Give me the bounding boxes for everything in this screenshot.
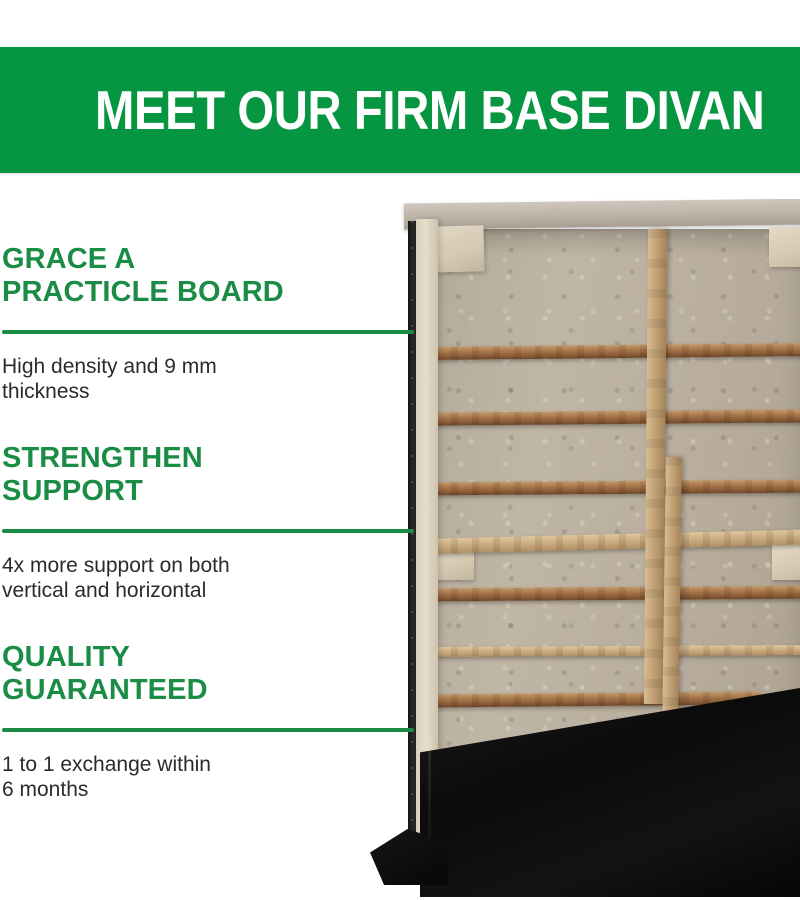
horizontal-slat [430,645,800,657]
feature-block: STRENGTHEN SUPPORT 4x more support on bo… [2,442,414,603]
feature-block: GRACE A PRACTICLE BOARD High density and… [2,243,414,404]
horizontal-slat [430,586,800,602]
feature-title: GRACE A PRACTICLE BOARD [2,243,414,309]
feature-list: GRACE A PRACTICLE BOARD High density and… [2,243,414,802]
feature-divider [2,529,414,533]
feature-divider [2,330,414,334]
product-photo-image [364,199,800,900]
feature-block: QUALITY GUARANTEED 1 to 1 exchange withi… [2,641,414,802]
corner-block-mid-right [772,544,800,580]
feature-divider [2,728,414,732]
feature-title: STRENGTHEN SUPPORT [2,442,414,508]
header-banner: MEET OUR FIRM BASE DIVAN [0,47,800,173]
product-photo [364,199,800,900]
horizontal-slat [430,480,800,496]
feature-body: 1 to 1 exchange within 6 months [2,752,414,802]
feature-title: QUALITY GUARANTEED [2,641,414,707]
corner-block-top-right [769,227,800,267]
feature-body: 4x more support on both vertical and hor… [2,553,414,603]
promo-graphic: MEET OUR FIRM BASE DIVAN GRACE A PRACTIC… [0,0,800,900]
left-frame-rail [416,219,438,835]
banner-title: MEET OUR FIRM BASE DIVAN [95,81,764,139]
feature-body: High density and 9 mm thickness [2,354,414,404]
